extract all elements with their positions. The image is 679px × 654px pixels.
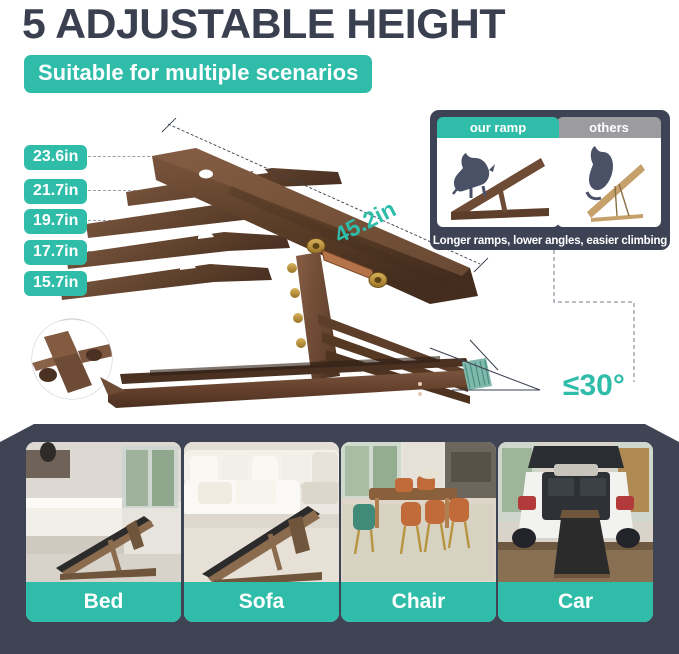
height-label-15-7in: 15.7in [24, 271, 87, 296]
scenario-card-car[interactable]: Car [498, 442, 653, 622]
adjust-bar-4 [66, 232, 290, 269]
comparison-others-label: others [557, 117, 661, 138]
height-label-19-7in: 19.7in [24, 209, 87, 234]
scenario-label-car: Car [498, 582, 653, 622]
page-title: 5 ADJUSTABLE HEIGHT [22, 0, 675, 48]
scenario-label-chair: Chair [341, 582, 496, 622]
base-frame [108, 356, 478, 408]
height-label-17-7in: 17.7in [24, 240, 87, 265]
scenario-card-chair[interactable]: Chair [341, 442, 496, 622]
comparison-others-column: others [557, 117, 661, 227]
scenario-card-sofa[interactable]: Sofa [184, 442, 339, 622]
comparison-caption: Longer ramps, lower angles, easier climb… [430, 235, 670, 247]
scenario-image-sofa [184, 442, 339, 582]
subtitle-badge: Suitable for multiple scenarios [24, 55, 372, 93]
comparison-ours-image [437, 138, 559, 227]
comparison-ours-label: our ramp [437, 117, 559, 138]
subtitle-text: Suitable for multiple scenarios [38, 60, 358, 86]
adjust-bar-5 [60, 263, 272, 300]
height-label-23-6in: 23.6in [24, 145, 87, 170]
scenario-label-bed: Bed [26, 582, 181, 622]
height-label-21-7in: 21.7in [24, 179, 87, 204]
scenario-card-bed[interactable]: Bed [26, 442, 181, 622]
comparison-ours-column: our ramp [437, 117, 559, 227]
comparison-card: others our ramp [430, 110, 670, 250]
comparison-others-image [557, 138, 661, 227]
comparison-connector-line [548, 250, 658, 385]
scenario-image-car [498, 442, 653, 582]
scenario-image-chair [341, 442, 496, 582]
angle-dimension-label: ≤30° [563, 369, 625, 403]
notch-detail-magnifier [22, 307, 130, 412]
scenario-label-sofa: Sofa [184, 582, 339, 622]
scenario-image-bed [26, 442, 181, 582]
